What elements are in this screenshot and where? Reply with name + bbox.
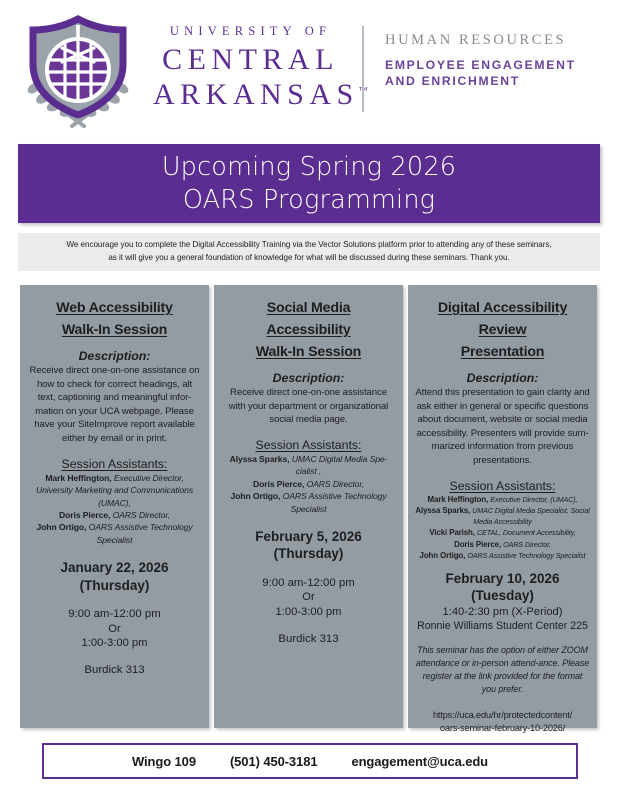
- session-times: 9:00 am-12:00 pm Or 1:00-3:00 pm: [27, 607, 202, 651]
- uca-shield-laurel-logo: [18, 14, 138, 132]
- footer-email[interactable]: engagement@uca.edu: [351, 754, 488, 769]
- session-note: This seminar has the option of either ZO…: [415, 644, 590, 696]
- description-text: Receive direct one-on-one assistance on …: [27, 364, 202, 446]
- department-subtitle-line2: AND ENRICHMENT: [385, 73, 610, 89]
- intro-note: We encourage you to complete the Digital…: [18, 233, 600, 271]
- session-time-2: 1:00-3:00 pm: [221, 605, 396, 620]
- session-date-text: January 22, 2026: [27, 559, 202, 576]
- session-room: Ronnie Williams Student Center 225: [415, 620, 590, 632]
- session-time-or: Or: [27, 622, 202, 637]
- assistants-list: Mark Heffington, Executive Director, (UM…: [415, 494, 590, 561]
- session-card-social-media-accessibility: Social Media Accessibility Walk-In Sessi…: [214, 285, 403, 728]
- card-title: Social Media Accessibility Walk-In Sessi…: [221, 297, 396, 363]
- card-title-line: Review: [479, 322, 527, 338]
- session-date: February 5, 2026 (Thursday): [221, 528, 396, 563]
- card-title: Web Accessibility Walk-In Session: [27, 297, 202, 341]
- assistant-entry: Alyssa Sparks, UMAC Digital Media Spe-ci…: [221, 453, 396, 478]
- description-label: Description:: [27, 349, 202, 363]
- footer-phone: (501) 450-3181: [230, 754, 318, 769]
- session-date-text: February 5, 2026: [221, 528, 396, 545]
- wordmark-arkansas-text: ARKANSAS: [153, 78, 359, 111]
- wordmark-university-of: UNIVERSITY OF: [148, 24, 348, 39]
- card-title-line: Walk-In Session: [62, 322, 167, 338]
- assistant-role: CETAL, Document Accessibility,: [477, 528, 576, 537]
- contact-footer: Wingo 109 (501) 450-3181 engagement@uca.…: [42, 743, 578, 779]
- assistant-name: Doris Pierce,: [59, 510, 110, 520]
- assistant-entry: Alyssa Sparks, UMAC Digital Media Specia…: [415, 505, 590, 527]
- description-label: Description:: [221, 371, 396, 385]
- assistant-name: Doris Pierce,: [253, 479, 304, 489]
- session-day-text: (Thursday): [221, 545, 396, 562]
- assistants-label: Session Assistants:: [415, 479, 590, 493]
- assistant-name: Alyssa Sparks,: [415, 506, 470, 515]
- registration-url[interactable]: https://uca.edu/hr/protectedcontent/ oar…: [415, 709, 590, 735]
- assistant-role: OARS Director,: [503, 540, 551, 549]
- card-title-line: Accessibility: [266, 322, 350, 338]
- session-room: Burdick 313: [221, 633, 396, 645]
- card-title-line: Social Media: [267, 300, 351, 316]
- header-divider: [362, 26, 364, 112]
- assistants-list: Alyssa Sparks, UMAC Digital Media Spe-ci…: [221, 453, 396, 515]
- session-date-text: February 10, 2026 (Tuesday): [415, 570, 590, 605]
- session-time-1: 9:00 am-12:00 pm: [221, 576, 396, 591]
- description-label: Description:: [415, 371, 590, 385]
- assistant-entry: Vicki Parish, CETAL, Document Accessibil…: [415, 527, 590, 538]
- assistant-entry: Doris Pierce, OARS Director,: [415, 539, 590, 550]
- card-title-line: Digital Accessibility: [438, 300, 567, 316]
- session-date: January 22, 2026 (Thursday): [27, 559, 202, 594]
- description-text: Attend this presentation to gain clarity…: [415, 386, 590, 468]
- assistant-entry: Doris Pierce, OARS Director,: [27, 509, 202, 521]
- assistant-entry: Mark Heffington, Executive Director, (UM…: [415, 494, 590, 505]
- wordmark-central: CENTRAL: [148, 42, 348, 77]
- department-subtitle-line1: EMPLOYEE ENGAGEMENT: [385, 57, 610, 73]
- session-day-text: (Thursday): [27, 577, 202, 594]
- registration-url-line2[interactable]: oars-seminar-february-10-2026/: [415, 722, 590, 735]
- assistant-name: Vicki Parish,: [429, 528, 475, 537]
- department-title: HUMAN RESOURCES: [385, 32, 610, 49]
- assistant-role: OARS Assistive Technology Specialist: [89, 522, 193, 544]
- assistants-label: Session Assistants:: [27, 457, 202, 471]
- title-banner: Upcoming Spring 2026 OARS Programming: [18, 144, 600, 223]
- card-title-line: Presentation: [461, 344, 545, 360]
- session-time-or: Or: [221, 590, 396, 605]
- assistant-role: OARS Assistive Technology Specialist: [283, 491, 387, 513]
- banner-line-2: OARS Programming: [183, 184, 435, 217]
- session-room: Burdick 313: [27, 664, 202, 676]
- session-time-1: 1:40-2:30 pm (X-Period): [415, 605, 590, 620]
- wordmark-arkansas: ARKANSAS™: [148, 77, 348, 112]
- intro-line-2: as it will give you a general foundation…: [18, 251, 600, 264]
- session-times: 9:00 am-12:00 pm Or 1:00-3:00 pm: [221, 576, 396, 620]
- session-date: February 10, 2026 (Tuesday): [415, 570, 590, 605]
- card-title-line: Walk-In Session: [256, 344, 361, 360]
- assistant-name: John Ortigo,: [420, 551, 466, 560]
- assistant-role: UMAC Digital Media Specialist, Social Me…: [472, 506, 589, 526]
- department-subtitle: EMPLOYEE ENGAGEMENT AND ENRICHMENT: [385, 57, 610, 90]
- assistant-name: John Ortigo,: [230, 491, 280, 501]
- banner-line-1: Upcoming Spring 2026: [162, 151, 456, 184]
- assistant-entry: John Ortigo, OARS Assistive Technology S…: [27, 521, 202, 546]
- assistant-entry: John Ortigo, OARS Assistive Technology S…: [415, 550, 590, 561]
- assistants-label: Session Assistants:: [221, 438, 396, 452]
- assistant-role: OARS Director,: [307, 479, 364, 489]
- description-text: Receive direct one-on-one assistance wit…: [221, 386, 396, 427]
- assistant-entry: John Ortigo, OARS Assistive Technology S…: [221, 490, 396, 515]
- assistant-role: UMAC Digital Media Spe-cialist ,: [292, 454, 388, 476]
- session-card-digital-accessibility-review: Digital Accessibility Review Presentatio…: [408, 285, 597, 728]
- assistant-name: Alyssa Sparks,: [230, 454, 290, 464]
- uca-wordmark: UNIVERSITY OF CENTRAL ARKANSAS™: [148, 24, 348, 113]
- assistant-role: Executive Director, (UMAC),: [490, 495, 577, 504]
- registration-url-line1[interactable]: https://uca.edu/hr/protectedcontent/: [415, 709, 590, 722]
- assistant-role: OARS Assistive Technology Specialist: [467, 551, 585, 560]
- assistant-name: Doris Pierce,: [454, 540, 501, 549]
- page-header: UNIVERSITY OF CENTRAL ARKANSAS™ HUMAN RE…: [0, 0, 618, 140]
- card-title-line: Web Accessibility: [56, 300, 172, 316]
- assistants-list: Mark Heffington, Executive Director, Uni…: [27, 472, 202, 547]
- assistant-entry: Doris Pierce, OARS Director,: [221, 478, 396, 490]
- assistant-name: Mark Heffington,: [428, 495, 489, 504]
- assistant-role: OARS Director,: [113, 510, 170, 520]
- session-card-web-accessibility: Web Accessibility Walk-In Session Descri…: [20, 285, 209, 728]
- session-time-2: 1:00-3:00 pm: [27, 636, 202, 651]
- intro-line-1: We encourage you to complete the Digital…: [18, 238, 600, 251]
- assistant-entry: Mark Heffington, Executive Director, Uni…: [27, 472, 202, 509]
- session-time-1: 9:00 am-12:00 pm: [27, 607, 202, 622]
- assistant-name: Mark Heffington,: [45, 473, 111, 483]
- department-block: HUMAN RESOURCES EMPLOYEE ENGAGEMENT AND …: [385, 32, 610, 90]
- assistant-name: John Ortigo,: [36, 522, 86, 532]
- card-title: Digital Accessibility Review Presentatio…: [415, 297, 590, 363]
- footer-office: Wingo 109: [132, 754, 196, 769]
